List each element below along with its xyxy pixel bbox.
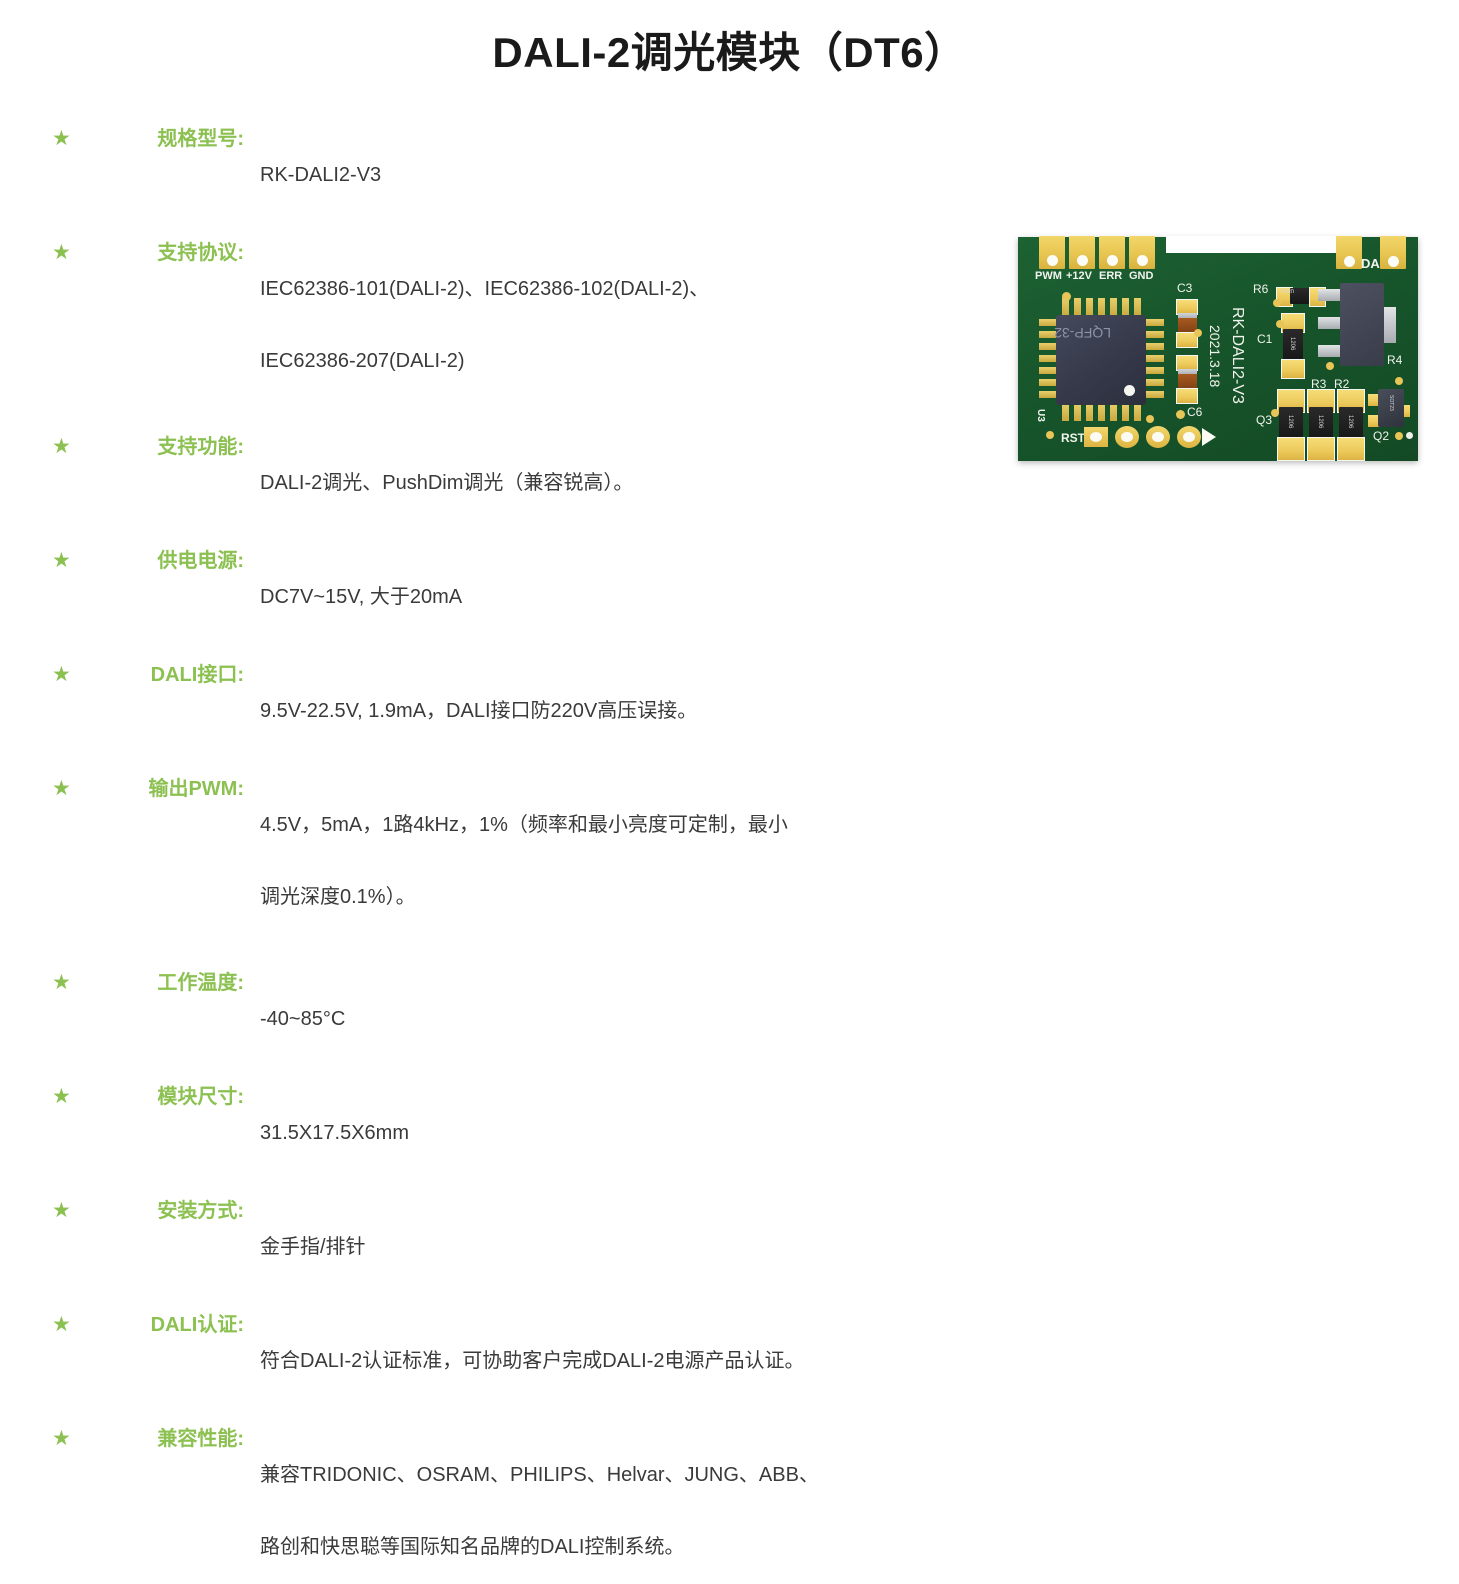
via: [1406, 432, 1413, 439]
spec-label: 支持功能:: [84, 429, 244, 465]
r4-code: 1206: [1287, 415, 1293, 428]
qfp-pin: [1039, 391, 1057, 398]
pcb-product-image: PWM +12V ERR GND DA: [1018, 237, 1418, 461]
edge-pad-hole: [1047, 255, 1058, 266]
spec-row-module-size: ★ 模块尺寸: 31.5X17.5X6mm: [52, 1079, 962, 1187]
spec-value: 金手指/排针: [244, 1193, 962, 1301]
spec-value-line: DALI-2调光、PushDim调光（兼容锐高）。: [260, 465, 962, 501]
spec-value-line: 9.5V-22.5V, 1.9mA，DALI接口防220V高压误接。: [260, 693, 962, 729]
via: [1395, 432, 1403, 440]
qfp-pin: [1146, 391, 1164, 398]
star-icon: ★: [52, 121, 78, 157]
qfp-pin: [1122, 403, 1129, 421]
via: [1326, 362, 1334, 370]
r6-code: 0805: [1281, 287, 1294, 293]
qfp-pin: [1098, 298, 1105, 316]
spec-row-protocol: ★ 支持协议: IEC62386-101(DALI-2)、IEC62386-10…: [52, 235, 962, 415]
silk-label-u3: U3: [1035, 409, 1046, 422]
qfp-pin: [1122, 298, 1129, 316]
silk-label-12v: +12V: [1066, 270, 1092, 282]
star-icon: ★: [52, 429, 78, 465]
spec-value: -40~85°C: [244, 965, 962, 1073]
spec-value: 4.5V，5mA，1路4kHz，1%（频率和最小亮度可定制，最小 调光深度0.1…: [244, 771, 962, 951]
spec-value-line: DC7V~15V, 大于20mA: [260, 579, 962, 615]
spec-row-operating-temperature: ★ 工作温度: -40~85°C: [52, 965, 962, 1073]
qfp-pin: [1039, 343, 1057, 350]
silk-board-name: RK-DALI2-V3: [1228, 307, 1246, 404]
spec-row-functions: ★ 支持功能: DALI-2调光、PushDim调光（兼容锐高）。: [52, 429, 962, 537]
qfp-pin: [1039, 355, 1057, 362]
qfp-pin: [1062, 403, 1069, 421]
silk-label-da: DA: [1361, 256, 1380, 271]
spec-label: 规格型号:: [84, 121, 244, 157]
ic-pin1-dot: [1124, 385, 1135, 396]
spec-value-line: 31.5X17.5X6mm: [260, 1115, 962, 1151]
star-icon: ★: [52, 657, 78, 693]
q3-tab: [1384, 307, 1396, 343]
qfp-pin: [1086, 298, 1093, 316]
c1-pad-bottom: [1281, 359, 1305, 379]
silk-label-gnd: GND: [1129, 270, 1153, 282]
spacer: [52, 421, 962, 429]
silk-label-q2: Q2: [1373, 429, 1389, 443]
spec-label: 模块尺寸:: [84, 1079, 244, 1115]
silk-label-r4: Q3: [1256, 413, 1272, 427]
spec-label: DALI接口:: [84, 657, 244, 693]
silk-label-c1: C1: [1257, 332, 1272, 346]
spec-value: DC7V~15V, 大于20mA: [244, 543, 962, 651]
spec-value: DALI-2调光、PushDim调光（兼容锐高）。: [244, 429, 962, 537]
qfp-pin: [1146, 355, 1164, 362]
spec-value: 兼容TRIDONIC、OSRAM、PHILIPS、Helvar、JUNG、ABB…: [244, 1421, 962, 1584]
edge-pad-hole: [1344, 256, 1355, 267]
r4-pad-bottom: [1277, 437, 1305, 461]
spec-row-dali-certification: ★ DALI认证: 符合DALI-2认证标准，可协助客户完成DALI-2电源产品…: [52, 1307, 962, 1415]
spec-label: 兼容性能:: [84, 1421, 244, 1457]
silk-label-rst: RST: [1061, 431, 1085, 445]
qfp-pin: [1134, 403, 1141, 421]
spec-value-line: 金手指/排针: [260, 1229, 962, 1265]
test-pad: [1177, 426, 1201, 448]
spec-value: IEC62386-101(DALI-2)、IEC62386-102(DALI-2…: [244, 235, 962, 415]
spec-row-mounting: ★ 安装方式: 金手指/排针: [52, 1193, 962, 1301]
qfp-pin: [1146, 319, 1164, 326]
qfp-pin: [1039, 379, 1057, 386]
silk-label-err: ERR: [1099, 270, 1122, 282]
qfp-pin: [1146, 343, 1164, 350]
edge-pad-hole: [1077, 255, 1088, 266]
spec-label: 支持协议:: [84, 235, 244, 271]
silk-label-c6: C6: [1187, 405, 1202, 419]
star-icon: ★: [52, 1193, 78, 1229]
via: [1194, 329, 1202, 337]
q2-marking: SOT23: [1388, 395, 1394, 411]
star-icon: ★: [52, 1307, 78, 1343]
test-pad: [1115, 426, 1139, 448]
spec-value: 符合DALI-2认证标准，可协助客户完成DALI-2电源产品认证。: [244, 1307, 962, 1415]
spec-value-line: IEC62386-101(DALI-2)、IEC62386-102(DALI-2…: [260, 271, 962, 307]
qfp-pin: [1146, 379, 1164, 386]
qfp-pin: [1110, 403, 1117, 421]
r3-pad-bottom: [1307, 437, 1335, 461]
spec-value-line: 4.5V，5mA，1路4kHz，1%（频率和最小亮度可定制，最小: [260, 807, 962, 843]
qfp-pin: [1098, 403, 1105, 421]
via: [1062, 292, 1071, 301]
qfp-pin: [1146, 367, 1164, 374]
spec-row-dali-interface: ★ DALI接口: 9.5V-22.5V, 1.9mA，DALI接口防220V高…: [52, 657, 962, 765]
c6-pad-bottom: [1176, 388, 1198, 404]
star-icon: ★: [52, 543, 78, 579]
via: [1271, 409, 1279, 417]
star-icon: ★: [52, 965, 78, 1001]
star-icon: ★: [52, 1079, 78, 1115]
spec-value: 31.5X17.5X6mm: [244, 1079, 962, 1187]
edge-pad-hole: [1137, 255, 1148, 266]
reset-pad: [1084, 427, 1108, 447]
silk-label-c3: C3: [1177, 281, 1192, 295]
edge-pad-hole: [1107, 255, 1118, 266]
spec-label: 供电电源:: [84, 543, 244, 579]
spec-value-line: -40~85°C: [260, 1001, 962, 1037]
qfp-pin: [1146, 331, 1164, 338]
test-pad: [1146, 426, 1170, 448]
spec-label: 工作温度:: [84, 965, 244, 1001]
orientation-marker-icon: [1202, 428, 1216, 446]
r2-pad-bottom: [1337, 437, 1365, 461]
specification-list: ★ 规格型号: RK-DALI2-V3 ★ 支持协议: IEC62386-101…: [52, 121, 962, 1584]
via: [1146, 415, 1154, 423]
product-spec-page: DALI-2调光模块（DT6） ★ 规格型号: RK-DALI2-V3 ★ 支持…: [0, 0, 1459, 792]
qfp-pin: [1110, 298, 1117, 316]
via: [1273, 299, 1281, 307]
spec-value: RK-DALI2-V3: [244, 121, 962, 229]
edge-pad-hole: [1388, 256, 1399, 267]
spec-row-pwm-output: ★ 输出PWM: 4.5V，5mA，1路4kHz，1%（频率和最小亮度可定制，最…: [52, 771, 962, 951]
spec-row-power-supply: ★ 供电电源: DC7V~15V, 大于20mA: [52, 543, 962, 651]
spec-row-model: ★ 规格型号: RK-DALI2-V3: [52, 121, 962, 229]
q3-body: [1340, 283, 1384, 366]
r2-code: 1206: [1347, 415, 1353, 428]
spec-label: DALI认证:: [84, 1307, 244, 1343]
via: [1046, 431, 1054, 439]
qfp-pin: [1074, 403, 1081, 421]
spec-row-compatibility: ★ 兼容性能: 兼容TRIDONIC、OSRAM、PHILIPS、Helvar、…: [52, 1421, 962, 1584]
qfp-pin: [1039, 367, 1057, 374]
spec-value-line: 符合DALI-2认证标准，可协助客户完成DALI-2电源产品认证。: [260, 1343, 962, 1379]
page-title: DALI-2调光模块（DT6）: [0, 28, 1459, 78]
silk-label-q3: R4: [1387, 353, 1402, 367]
ic-marking-text: LQFP-32: [1054, 325, 1111, 341]
spec-value-line: 调光深度0.1%）。: [260, 879, 962, 915]
star-icon: ★: [52, 235, 78, 271]
c1-code: 1206: [1289, 337, 1295, 350]
silk-label-pwm: PWM: [1035, 270, 1062, 282]
spec-value-line: 路创和快思聪等国际知名品牌的DALI控制系统。: [260, 1529, 962, 1565]
via: [1395, 377, 1403, 385]
qfp-pin: [1074, 298, 1081, 316]
pcb-notch: [1166, 236, 1342, 253]
silk-label-r6: R6: [1253, 282, 1268, 296]
qfp-pin: [1134, 298, 1141, 316]
qfp-pin: [1086, 403, 1093, 421]
star-icon: ★: [52, 771, 78, 807]
via: [1276, 320, 1284, 328]
spec-value-line: RK-DALI2-V3: [260, 157, 962, 193]
spec-label: 安装方式:: [84, 1193, 244, 1229]
spec-value: 9.5V-22.5V, 1.9mA，DALI接口防220V高压误接。: [244, 657, 962, 765]
silk-board-date: 2021.3.18: [1207, 325, 1223, 387]
spec-value-line: 兼容TRIDONIC、OSRAM、PHILIPS、Helvar、JUNG、ABB…: [260, 1457, 962, 1493]
spec-value-line: IEC62386-207(DALI-2): [260, 343, 962, 379]
star-icon: ★: [52, 1421, 78, 1457]
via: [1176, 410, 1185, 419]
spacer: [52, 957, 962, 965]
r3-code: 1206: [1317, 415, 1323, 428]
spec-label: 输出PWM:: [84, 771, 244, 807]
